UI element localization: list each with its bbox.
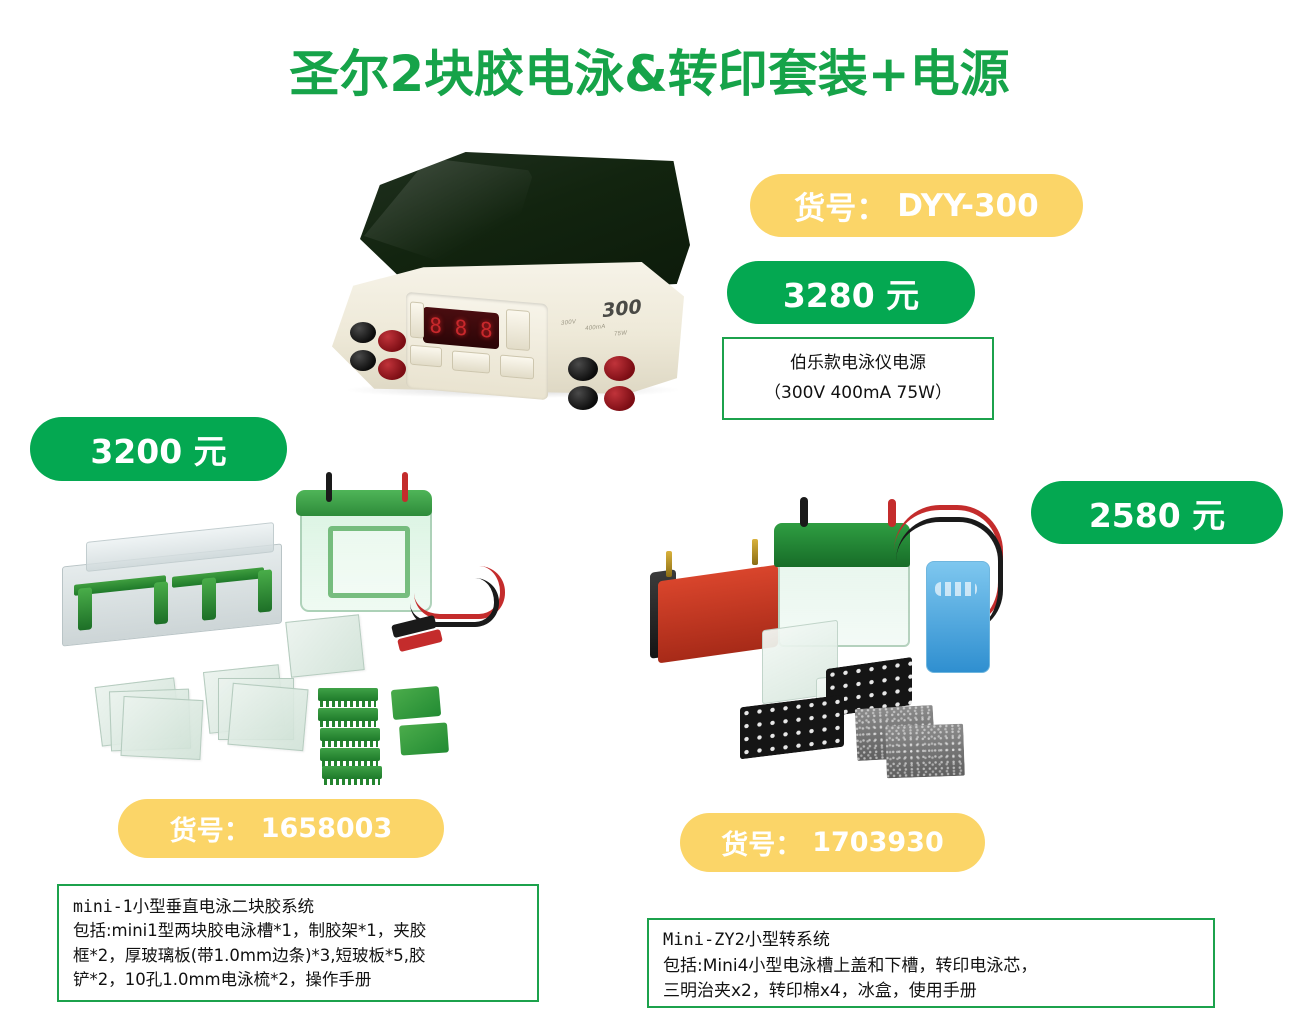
gel-comb-1 <box>318 688 378 701</box>
jack-red-right-bottom <box>604 386 635 411</box>
electrode-core-assembly <box>328 526 410 598</box>
gel-comb-4 <box>320 748 380 761</box>
lead-black-plug <box>326 472 332 502</box>
description-line-2: 框*2，厚玻璃板(带1.0mm边条)*3,短玻板*5,胶 <box>73 944 527 968</box>
thick-plate-3 <box>227 683 308 751</box>
volt-amp-button[interactable] <box>500 355 534 380</box>
transfer-core-red-holder <box>658 565 778 664</box>
part-number-value: DYY-300 <box>897 188 1038 224</box>
description-title: Mini-ZY2小型转系统 <box>663 928 1203 954</box>
gel-comb-3 <box>320 728 380 741</box>
gel-clamp-2 <box>154 581 168 624</box>
jack-black-left-bottom <box>350 350 376 371</box>
part-number-value: 1703930 <box>812 827 944 858</box>
price-badge-mini1-gel-system[interactable]: 3200 元 <box>30 417 287 481</box>
up-down-arrows-button[interactable] <box>506 309 530 351</box>
description-line-3: 铲*2，10孔1.0mm电泳梳*2，操作手册 <box>73 968 527 992</box>
gel-clamp-3 <box>202 577 216 620</box>
part-number-badge-mini1-gel-system[interactable]: 货号： 1658003 <box>118 799 444 858</box>
glass-plate-large <box>285 614 364 677</box>
power-button[interactable] <box>410 345 442 368</box>
transfer-lead-red-plug <box>888 499 896 527</box>
spec-box-power-supply: 伯乐款电泳仪电源 （300V 400mA 75W） <box>722 337 994 420</box>
part-number-label: 货号： <box>721 823 802 862</box>
transfer-tank-lid <box>774 523 910 567</box>
description-line-1: 包括:Mini4小型电泳槽上盖和下槽，转印电泳芯， <box>663 954 1203 980</box>
gel-clamp-1 <box>78 587 92 630</box>
gel-spatula-1 <box>391 686 441 720</box>
led-digit-2: 8 <box>453 315 469 340</box>
spec-name-power-supply: 伯乐款电泳仪电源 <box>790 349 926 379</box>
description-line-2: 三明治夹x2，转印棉x4，冰盒，使用手册 <box>663 979 1203 1005</box>
jack-red-right-top <box>604 356 635 381</box>
part-number-badge-mini-zy2-transfer-system[interactable]: 货号： 1703930 <box>680 813 985 872</box>
jack-red-left-top <box>378 330 406 352</box>
part-number-badge-power-supply[interactable]: 货号： DYY-300 <box>750 174 1083 237</box>
product-image-mini1-gel-system <box>62 470 532 780</box>
run-pause-button[interactable] <box>452 350 490 373</box>
spec-rating-power-supply: （300V 400mA 75W） <box>764 379 952 409</box>
part-number-label: 货号： <box>794 183 887 228</box>
lead-red-plug <box>402 472 408 502</box>
model-marking-300: 300 <box>601 296 643 323</box>
description-box-mini-zy2-transfer-system: Mini-ZY2小型转系统 包括:Mini4小型电泳槽上盖和下槽，转印电泳芯， … <box>647 918 1215 1008</box>
part-number-label: 货号： <box>170 809 251 848</box>
electrophoresis-tank-lid <box>296 490 432 516</box>
electrode-pin-black <box>666 551 672 577</box>
short-plate-3 <box>120 696 203 760</box>
gel-clamp-4 <box>258 569 272 612</box>
product-image-power-supply: 8 8 8 300 300V 400mA 75W <box>320 150 720 435</box>
led-digit-3: 8 <box>478 318 494 343</box>
transfer-lead-black-plug <box>800 497 808 527</box>
jack-black-left-top <box>350 322 376 343</box>
ice-pack <box>926 561 990 673</box>
transfer-pad-2 <box>885 724 965 779</box>
price-badge-power-supply[interactable]: 3280 元 <box>727 261 975 324</box>
perforated-plate-lower <box>740 695 844 760</box>
electrode-pin-red <box>752 539 758 565</box>
gel-comb-5 <box>322 766 382 779</box>
jack-red-left-bottom <box>378 358 406 380</box>
led-display: 8 8 8 <box>423 307 499 350</box>
jack-black-right-bottom <box>568 386 598 410</box>
description-line-1: 包括:mini1型两块胶电泳槽*1，制胶架*1，夹胶 <box>73 919 527 943</box>
part-number-value: 1658003 <box>261 813 393 844</box>
promo-poster: 圣尔2块胶电泳&转印套装+电源 8 8 8 300 300V 400mA 75W <box>0 0 1299 1016</box>
page-title: 圣尔2块胶电泳&转印套装+电源 <box>0 34 1299 106</box>
mode-indicator-strip[interactable] <box>410 301 424 338</box>
led-digit-1: 8 <box>428 313 444 338</box>
jack-black-right-top <box>568 357 598 381</box>
product-image-mini-zy2-transfer-system <box>648 495 1068 785</box>
price-badge-mini-zy2-transfer-system[interactable]: 2580 元 <box>1031 481 1283 544</box>
description-title: mini-1小型垂直电泳二块胶系统 <box>73 895 527 919</box>
description-box-mini1-gel-system: mini-1小型垂直电泳二块胶系统 包括:mini1型两块胶电泳槽*1，制胶架*… <box>57 884 539 1002</box>
gel-spatula-2 <box>399 722 449 755</box>
gel-comb-2 <box>318 708 378 721</box>
